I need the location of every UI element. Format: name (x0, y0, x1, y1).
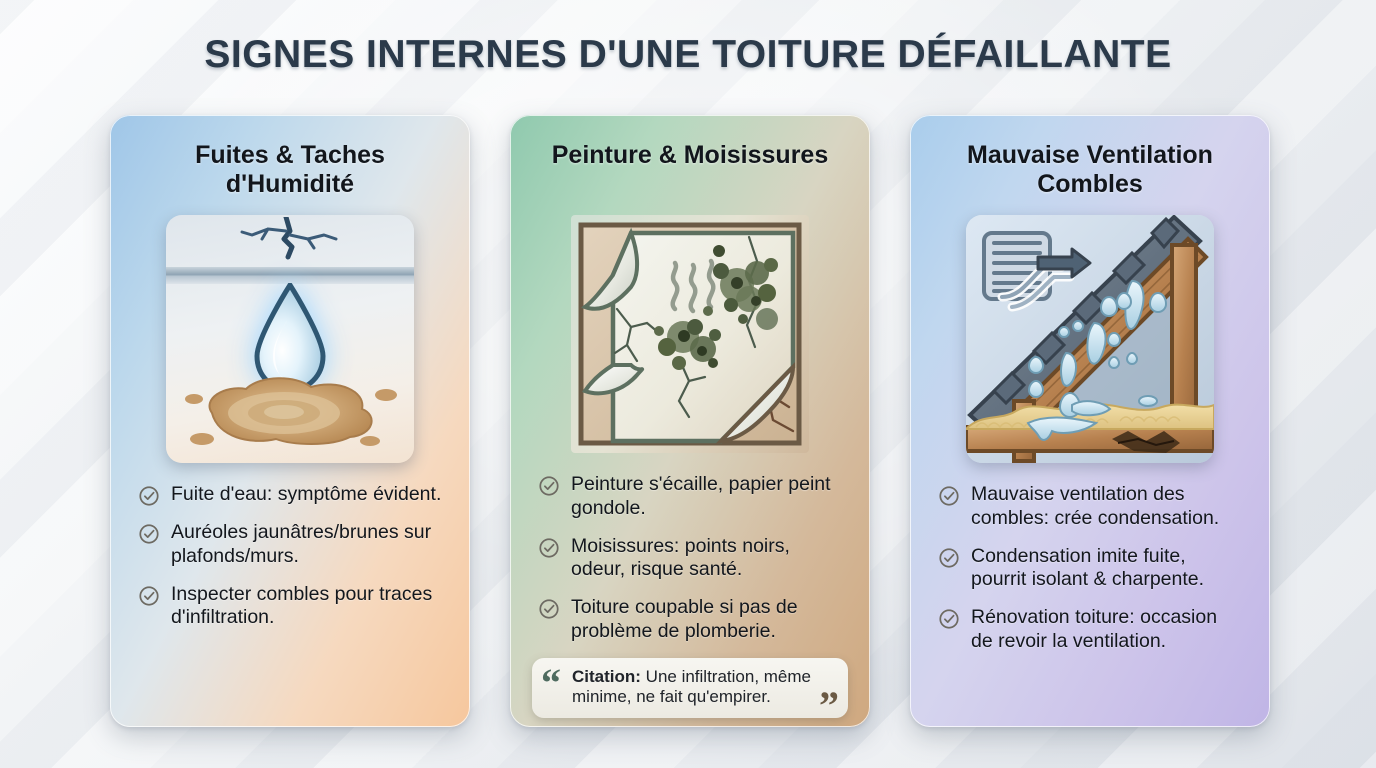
check-circle-icon (138, 585, 160, 607)
quote-open-icon: “ (541, 663, 561, 703)
check-circle-icon (538, 475, 560, 497)
card-mauvaise-ventilation-combles[interactable]: Mauvaise Ventilation Combles (910, 115, 1270, 727)
check-circle-icon (138, 485, 160, 507)
card-peinture-moisissures[interactable]: Peinture & Moisissures (510, 115, 870, 727)
list-item-label: Auréoles jaunâtres/brunes sur plafonds/m… (171, 521, 442, 569)
page-title: SIGNES INTERNES D'UNE TOITURE DÉFAILLANT… (0, 33, 1376, 77)
list-item: Peinture s'écaille, papier peint gondole… (538, 473, 842, 521)
list-item-label: Toiture coupable si pas de problème de p… (571, 596, 842, 644)
wallpaper-mold-graphic (571, 215, 809, 453)
list-item: Auréoles jaunâtres/brunes sur plafonds/m… (138, 521, 442, 569)
card-title: Peinture & Moisissures (552, 141, 828, 201)
quote-callout: “ ” Citation: Une infiltration, même min… (532, 658, 848, 718)
list-item: Moisissures: points noirs, odeur, risque… (538, 535, 842, 583)
check-circle-icon (138, 523, 160, 545)
bullet-list: Fuite d'eau: symptôme évident. Auréoles … (132, 483, 448, 630)
list-item-label: Rénovation toiture: occasion de revoir l… (971, 606, 1242, 654)
list-item: Fuite d'eau: symptôme évident. (138, 483, 442, 507)
quote-close-icon: ” (819, 686, 839, 726)
water-drop-ceiling-stain-illustration (166, 215, 414, 463)
quote-label: Citation: (572, 667, 641, 686)
list-item-label: Fuite d'eau: symptôme évident. (171, 483, 441, 507)
check-circle-icon (538, 537, 560, 559)
check-circle-icon (538, 598, 560, 620)
list-item: Toiture coupable si pas de problème de p… (538, 596, 842, 644)
list-item: Rénovation toiture: occasion de revoir l… (938, 606, 1242, 654)
list-item-label: Condensation imite fuite, pourrit isolan… (971, 545, 1242, 593)
card-fuites-taches-humidite[interactable]: Fuites & Taches d'Humidité (110, 115, 470, 727)
list-item: Mauvaise ventilation des combles: crée c… (938, 483, 1242, 531)
list-item-label: Peinture s'écaille, papier peint gondole… (571, 473, 842, 521)
list-item: Condensation imite fuite, pourrit isolan… (938, 545, 1242, 593)
list-item-label: Inspecter combles pour traces d'infiltra… (171, 583, 442, 631)
attic-condensation-ventilation-illustration (966, 215, 1214, 463)
bullet-list: Mauvaise ventilation des combles: crée c… (932, 483, 1248, 654)
quote-text: Citation: Une infiltration, même minime,… (572, 667, 818, 708)
water-stain-puddle-icon (180, 369, 400, 447)
list-item-label: Mauvaise ventilation des combles: crée c… (971, 483, 1242, 531)
bullet-list: Peinture s'écaille, papier peint gondole… (532, 473, 848, 644)
peeling-wallpaper-mold-illustration (571, 215, 809, 453)
ceiling-crack-icon (228, 217, 348, 273)
cards-row: Fuites & Taches d'Humidité (110, 115, 1270, 727)
check-circle-icon (938, 608, 960, 630)
check-circle-icon (938, 485, 960, 507)
card-title: Mauvaise Ventilation Combles (932, 141, 1248, 201)
attic-cross-section-graphic (966, 215, 1214, 463)
card-title: Fuites & Taches d'Humidité (132, 141, 448, 201)
list-item-label: Moisissures: points noirs, odeur, risque… (571, 535, 842, 583)
check-circle-icon (938, 547, 960, 569)
list-item: Inspecter combles pour traces d'infiltra… (138, 583, 442, 631)
